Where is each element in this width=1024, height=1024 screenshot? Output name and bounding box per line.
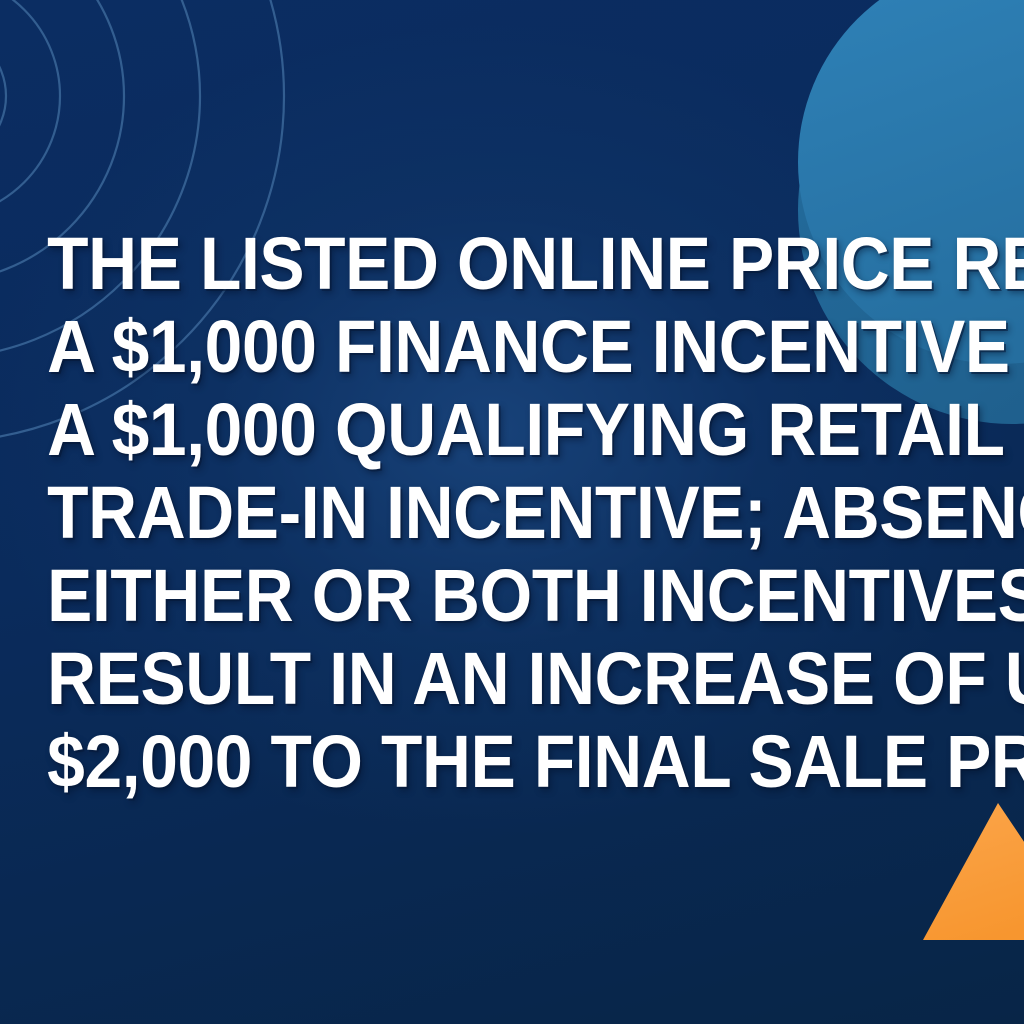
accent-triangle-icon bbox=[923, 803, 1024, 940]
headline-line-5: EITHER OR BOTH INCENTIVES WILL bbox=[47, 554, 977, 637]
disclaimer-graphic: THE LISTED ONLINE PRICE REFLECTS A $1,00… bbox=[0, 0, 1024, 1024]
headline-line-3: A $1,000 QUALIFYING RETAIL bbox=[47, 388, 977, 471]
headline-line-6: RESULT IN AN INCREASE OF UP TO bbox=[47, 637, 977, 720]
headline-text-block: THE LISTED ONLINE PRICE REFLECTS A $1,00… bbox=[0, 222, 1024, 803]
headline-line-4: TRADE-IN INCENTIVE; ABSENCE OF bbox=[47, 471, 977, 554]
headline-line-7: $2,000 TO THE FINAL SALE PRICE. bbox=[47, 720, 977, 803]
headline-line-1: THE LISTED ONLINE PRICE REFLECTS bbox=[47, 222, 977, 305]
headline-line-2: A $1,000 FINANCE INCENTIVE AND bbox=[47, 305, 977, 388]
